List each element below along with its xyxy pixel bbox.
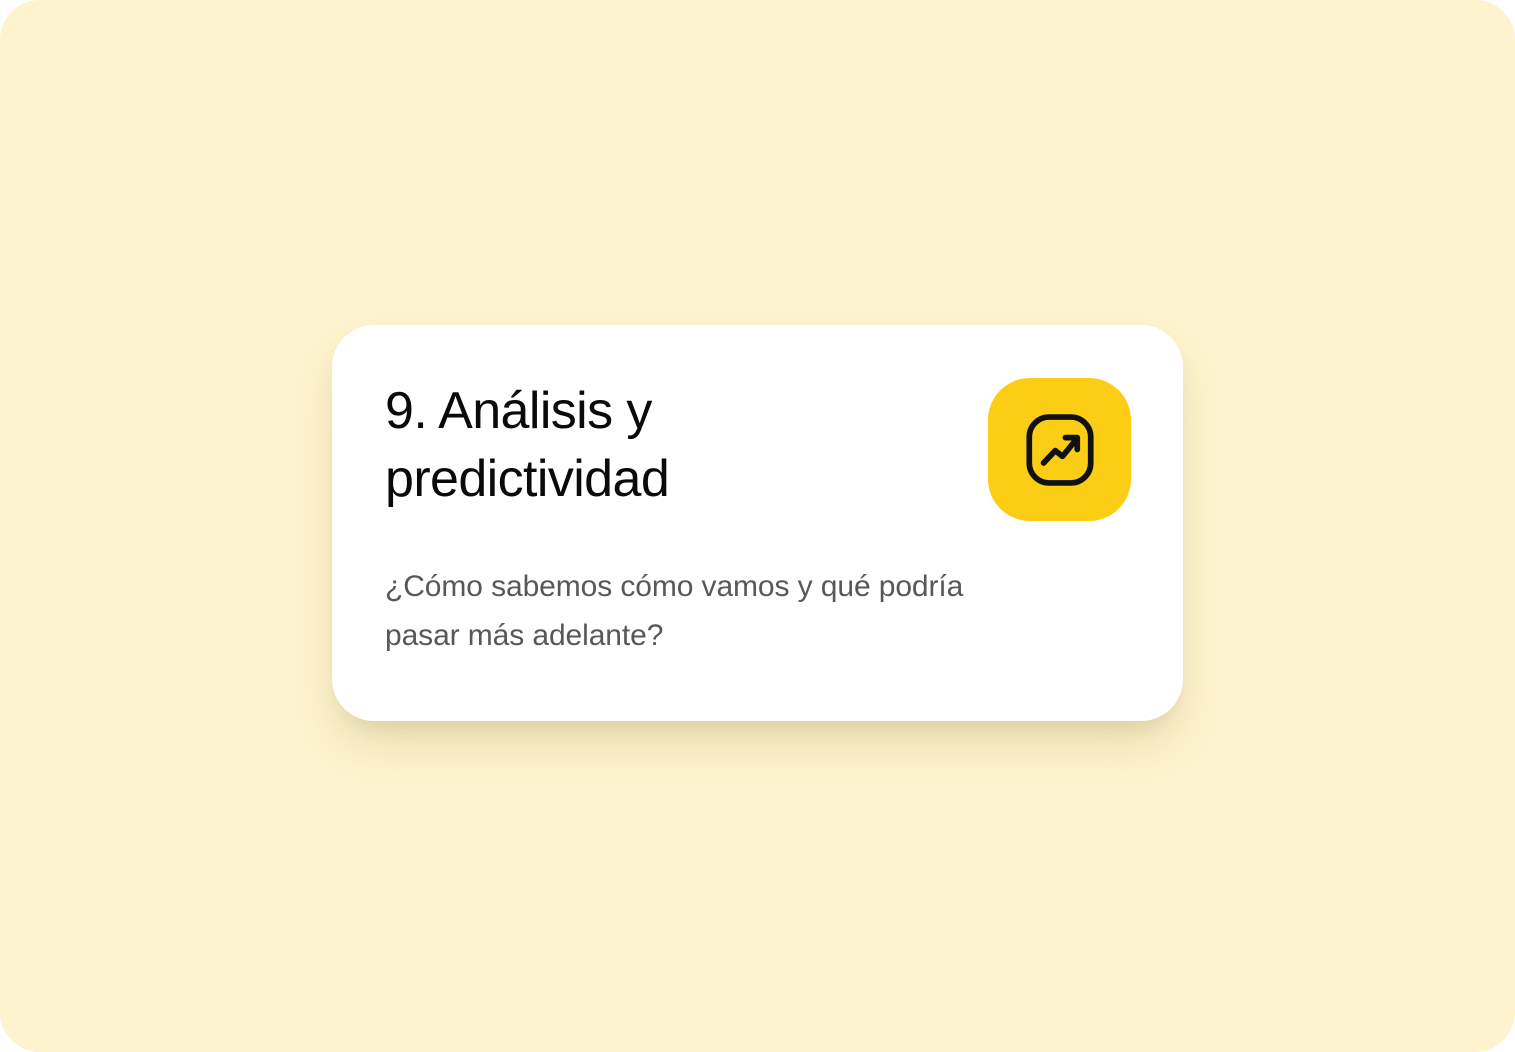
card-header: 9. Análisis y predictividad	[385, 378, 1127, 521]
content-card: 9. Análisis y predictividad ¿Cómo sabemo…	[332, 325, 1183, 721]
card-subtitle: ¿Cómo sabemos cómo vamos y qué podría pa…	[385, 563, 1075, 661]
page-surface: 9. Análisis y predictividad ¿Cómo sabemo…	[0, 0, 1515, 1052]
page-title: 9. Análisis y predictividad	[385, 378, 669, 513]
trending-up-in-rounded-square-icon	[1022, 412, 1098, 488]
badge-icon-tile	[988, 378, 1131, 521]
